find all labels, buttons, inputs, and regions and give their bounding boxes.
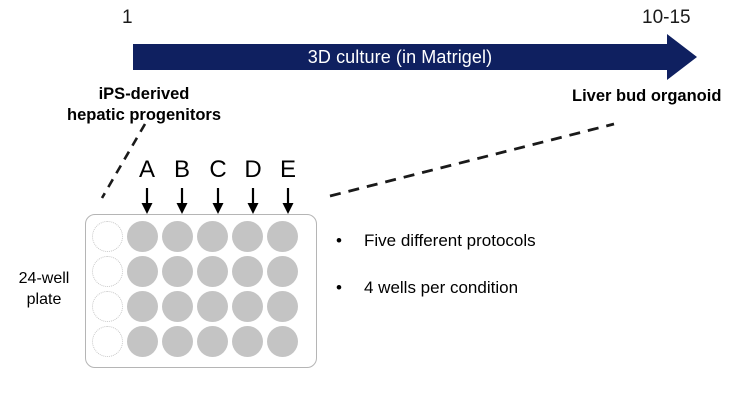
well-r3-c2 bbox=[127, 291, 158, 322]
well-r3-c1 bbox=[92, 291, 123, 322]
protocol-down-arrow-b bbox=[175, 188, 189, 214]
well-r1-c3 bbox=[162, 221, 193, 252]
protocol-down-arrow-c bbox=[211, 188, 225, 214]
well-r2-c2 bbox=[127, 256, 158, 287]
bullet-icon: • bbox=[336, 230, 364, 252]
well-r1-c4 bbox=[197, 221, 228, 252]
protocol-letter-e: E bbox=[273, 156, 303, 184]
well-r4-c5 bbox=[232, 326, 263, 357]
well-r1-c6 bbox=[267, 221, 298, 252]
protocol-letter-c: C bbox=[203, 156, 233, 184]
note-item-2: • 4 wells per condition bbox=[336, 277, 636, 299]
note-item-1-text: Five different protocols bbox=[364, 230, 536, 252]
well-r2-c4 bbox=[197, 256, 228, 287]
connector-line-right bbox=[322, 116, 622, 204]
well-r1-c1 bbox=[92, 221, 123, 252]
note-item-2-text: 4 wells per condition bbox=[364, 277, 518, 299]
protocol-down-arrow-e bbox=[281, 188, 295, 214]
well-r3-c3 bbox=[162, 291, 193, 322]
plate-caption-line2: plate bbox=[6, 289, 82, 310]
well-r2-c5 bbox=[232, 256, 263, 287]
well-r4-c2 bbox=[127, 326, 158, 357]
well-plate bbox=[85, 214, 317, 368]
protocol-letter-a: A bbox=[132, 156, 162, 184]
bullet-icon: • bbox=[336, 277, 364, 299]
well-r2-c6 bbox=[267, 256, 298, 287]
plate-caption-line1: 24-well bbox=[6, 268, 82, 289]
well-r3-c6 bbox=[267, 291, 298, 322]
notes-list: • Five different protocols • 4 wells per… bbox=[336, 230, 636, 324]
well-r2-c1 bbox=[92, 256, 123, 287]
protocol-letter-d: D bbox=[238, 156, 268, 184]
timeline-end-label: 10-15 bbox=[642, 7, 691, 29]
well-r3-c4 bbox=[197, 291, 228, 322]
figure-canvas: 1 10-15 3D culture (in Matrigel) iPS-der… bbox=[0, 0, 750, 406]
well-r3-c5 bbox=[232, 291, 263, 322]
well-r4-c1 bbox=[92, 326, 123, 357]
well-r1-c2 bbox=[127, 221, 158, 252]
protocol-letter-b: B bbox=[167, 156, 197, 184]
well-r2-c3 bbox=[162, 256, 193, 287]
well-r4-c3 bbox=[162, 326, 193, 357]
well-r4-c4 bbox=[197, 326, 228, 357]
well-r1-c5 bbox=[232, 221, 263, 252]
culture-arrow-label: 3D culture (in Matrigel) bbox=[133, 46, 667, 68]
start-stage-caption-line1: iPS-derived bbox=[38, 84, 250, 105]
protocol-down-arrow-d bbox=[246, 188, 260, 214]
protocol-down-arrow-a bbox=[140, 188, 154, 214]
well-r4-c6 bbox=[267, 326, 298, 357]
timeline-start-label: 1 bbox=[122, 7, 133, 29]
end-stage-caption: Liver bud organoid bbox=[572, 86, 721, 107]
note-item-1: • Five different protocols bbox=[336, 230, 636, 252]
plate-caption: 24-well plate bbox=[6, 268, 82, 310]
